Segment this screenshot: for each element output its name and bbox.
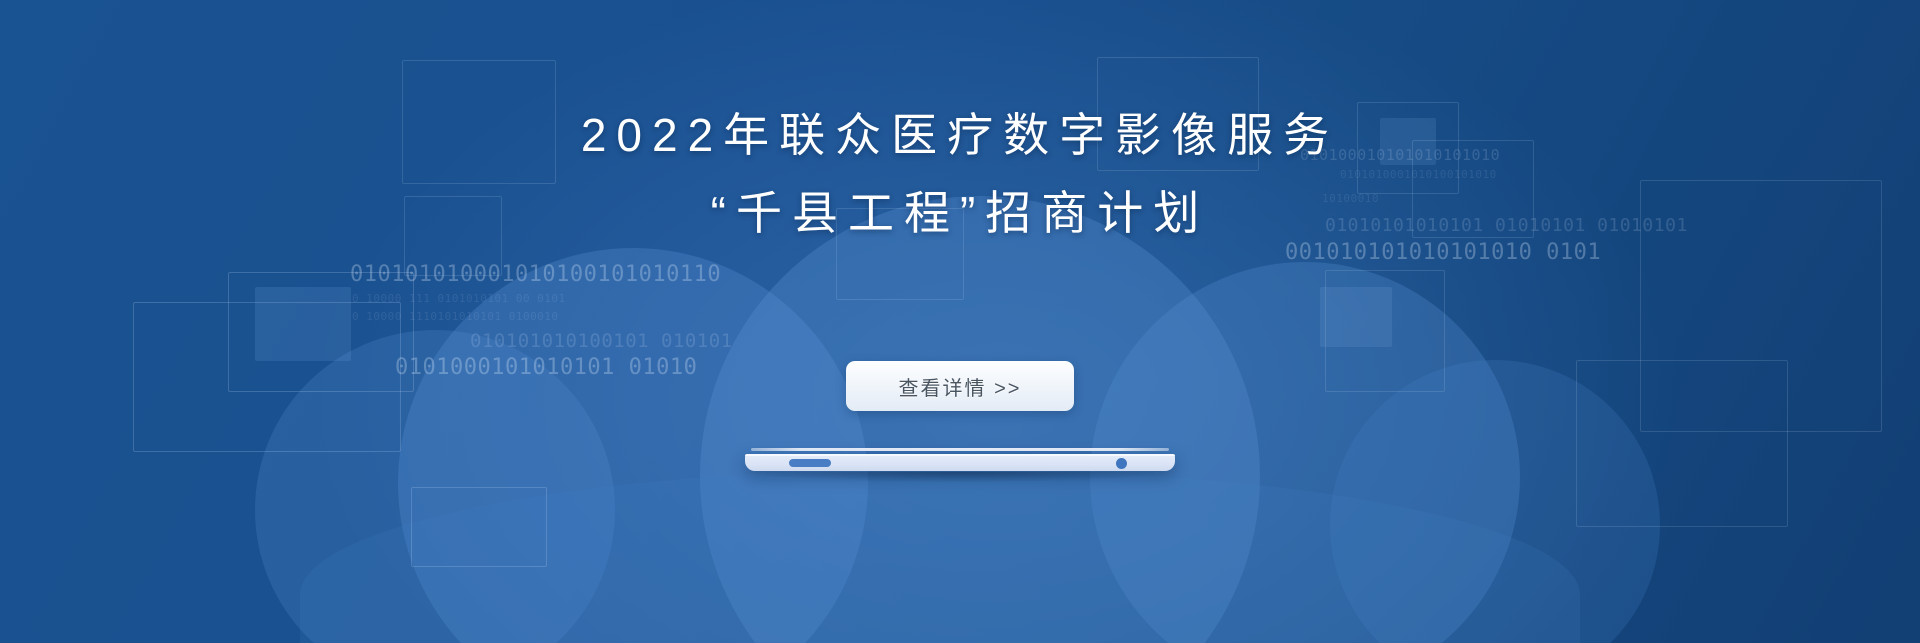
title-line-2: “千县工程”招商计划 <box>0 174 1920 252</box>
title-line-1: 2022年联众医疗数字影像服务 <box>0 96 1920 174</box>
view-details-button[interactable]: 查看详情 >> <box>846 361 1074 411</box>
laptop-device-illustration <box>745 448 1175 474</box>
laptop-indicator-bar <box>789 459 831 467</box>
view-details-label: 查看详情 >> <box>899 372 1022 401</box>
banner-title: 2022年联众医疗数字影像服务 “千县工程”招商计划 <box>0 96 1920 252</box>
promo-banner: 010101010001010100101010110 0 10000 111 … <box>0 0 1920 643</box>
laptop-indicator-dot <box>1116 458 1127 469</box>
banner-content: 2022年联众医疗数字影像服务 “千县工程”招商计划 查看详情 >> <box>0 0 1920 643</box>
laptop-shadow <box>765 472 1155 482</box>
laptop-lid-edge <box>751 448 1169 451</box>
